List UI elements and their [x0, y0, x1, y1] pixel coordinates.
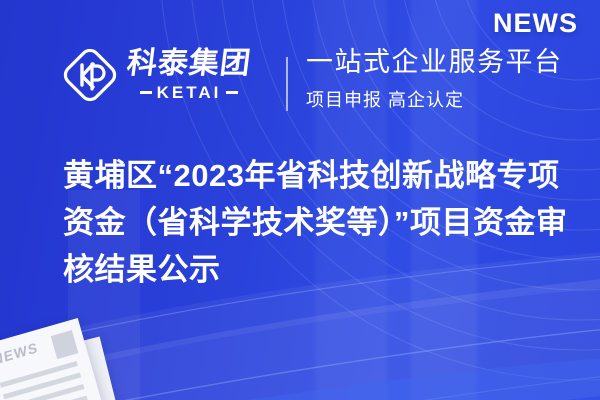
- page-title: 黄埔区“2023年省科技创新战略专项资金（省科学技术奖等）”项目资金审核结果公示: [63, 152, 573, 293]
- slogan-sub: 项目申报 高企认定: [306, 86, 563, 112]
- news-banner: 科泰集团 KETAI 一站式企业服务平台 项目申报 高企认定 NEWS 黄埔区“…: [0, 0, 600, 400]
- slogan-main: 一站式企业服务平台: [306, 48, 563, 78]
- logo-company-name-en-row: KETAI: [140, 84, 239, 101]
- logo-dash-left-icon: [140, 91, 152, 94]
- logo[interactable]: 科泰集团 KETAI: [63, 48, 251, 102]
- logo-dash-right-icon: [226, 91, 238, 94]
- paper-news-label: NEWS: [0, 339, 39, 368]
- logo-company-name-cn: 科泰集团: [125, 49, 253, 79]
- vertical-divider-icon: [286, 57, 288, 111]
- slogan-block: 一站式企业服务平台 项目申报 高企认定: [306, 48, 563, 112]
- logo-wordmark: 科泰集团 KETAI: [127, 49, 251, 101]
- news-label: NEWS: [493, 8, 578, 39]
- ketai-kp-monogram-icon: [63, 48, 117, 102]
- logo-company-name-en: KETAI: [157, 84, 222, 101]
- paper-thumbnail-icon: [51, 330, 79, 359]
